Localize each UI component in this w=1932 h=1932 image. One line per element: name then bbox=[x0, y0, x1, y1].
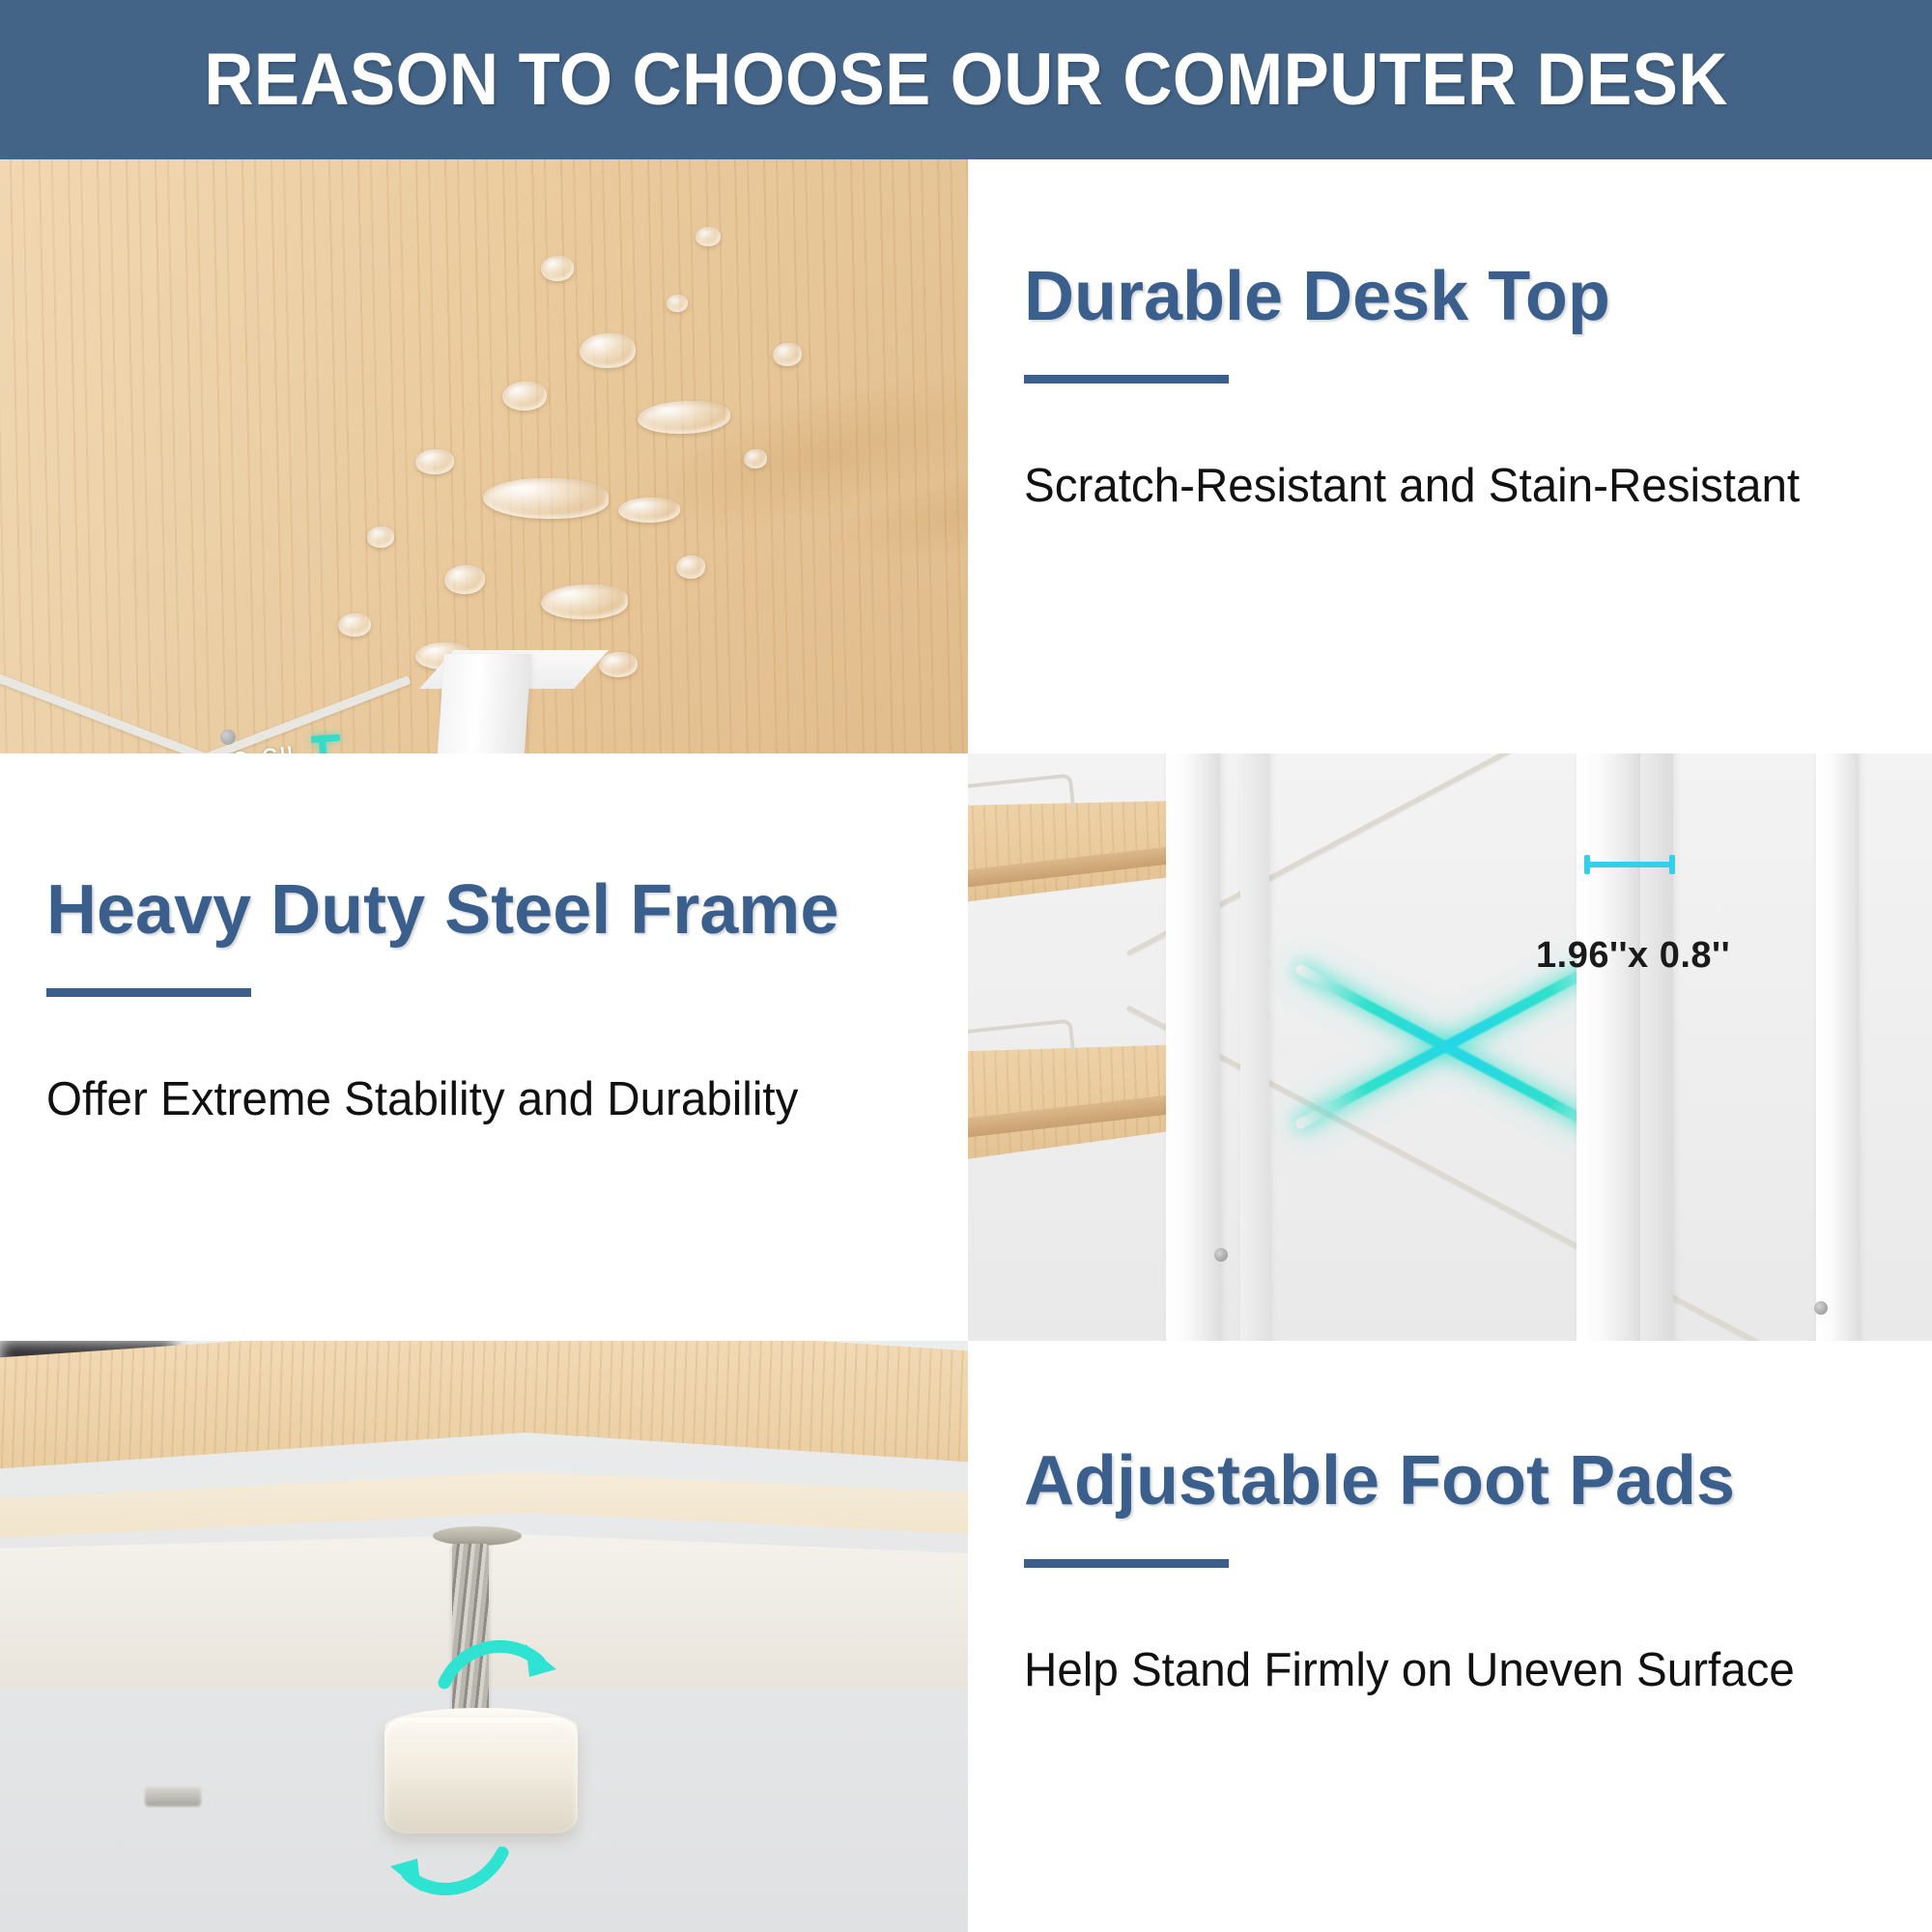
feature-subtitle: Scratch-Resistant and Stain-Resistant bbox=[1024, 459, 1800, 513]
rotation-arrow-icon bbox=[384, 1824, 510, 1911]
water-droplet bbox=[367, 526, 394, 548]
feature-text-block: Heavy Duty Steel Frame Offer Extreme Sta… bbox=[46, 874, 838, 1126]
feature-text-block: Durable Desk Top Scratch-Resistant and S… bbox=[1024, 261, 1824, 513]
water-droplet bbox=[667, 295, 688, 312]
frame-post bbox=[1166, 753, 1220, 1341]
feature-heading: Heavy Duty Steel Frame bbox=[46, 874, 838, 948]
steel-frame-photo: 1.96''x 0.8'' bbox=[968, 753, 1932, 1341]
water-droplet bbox=[502, 382, 547, 411]
water-droplet bbox=[415, 449, 454, 474]
header-banner: REASON TO CHOOSE OUR COMPUTER DESK bbox=[0, 0, 1932, 159]
water-droplet bbox=[541, 256, 574, 281]
feature-photo-heavy-duty-steel-frame: 1.96''x 0.8'' bbox=[968, 753, 1932, 1341]
foot-pad-photo bbox=[0, 1341, 968, 1932]
frame-post bbox=[1640, 753, 1673, 1341]
feature-text-durable-desk-top: Durable Desk Top Scratch-Resistant and S… bbox=[968, 159, 1932, 753]
water-droplet bbox=[618, 497, 680, 523]
desk-top-photo: 0.6'' bbox=[0, 159, 968, 753]
brace-screw bbox=[1814, 1301, 1828, 1315]
dimension-cap-left bbox=[1584, 855, 1590, 874]
water-droplet bbox=[773, 343, 802, 366]
foot-pad bbox=[384, 1718, 578, 1833]
water-droplet bbox=[338, 613, 371, 637]
feature-photo-adjustable-foot-pads bbox=[0, 1341, 968, 1932]
water-droplet bbox=[580, 333, 636, 368]
brace-screw bbox=[1214, 1248, 1228, 1262]
infographic-page: REASON TO CHOOSE OUR COMPUTER DESK bbox=[0, 0, 1932, 1932]
rotation-arrow-icon bbox=[437, 1627, 562, 1714]
cyan-x-brace-glow bbox=[1293, 963, 1623, 1145]
heading-rule bbox=[46, 988, 251, 997]
frame-post bbox=[1816, 753, 1859, 1341]
desk-leg bbox=[429, 654, 531, 753]
feature-heading: Durable Desk Top bbox=[1024, 261, 1824, 334]
water-droplet bbox=[444, 565, 485, 594]
water-droplet bbox=[483, 478, 609, 519]
feature-text-heavy-duty-steel-frame: Heavy Duty Steel Frame Offer Extreme Sta… bbox=[0, 753, 968, 1341]
water-droplet bbox=[696, 227, 721, 246]
water-droplet bbox=[599, 652, 638, 677]
dimension-cap-right bbox=[1669, 855, 1675, 874]
tube-callout-label: 1.96''x 0.8'' bbox=[1536, 935, 1730, 977]
feature-subtitle: Help Stand Firmly on Uneven Surface bbox=[1024, 1643, 1795, 1697]
frame-post bbox=[1240, 753, 1269, 1341]
page-title: REASON TO CHOOSE OUR COMPUTER DESK bbox=[204, 38, 1727, 122]
water-droplet bbox=[676, 555, 705, 579]
feature-text-adjustable-foot-pads: Adjustable Foot Pads Help Stand Firmly o… bbox=[968, 1341, 1932, 1932]
frame-post bbox=[1577, 753, 1640, 1341]
tube-dimension-line bbox=[1586, 862, 1675, 867]
frame-bolt bbox=[145, 1787, 201, 1806]
feature-heading: Adjustable Foot Pads bbox=[1024, 1445, 1819, 1519]
heading-rule bbox=[1024, 375, 1229, 384]
feature-subtitle: Offer Extreme Stability and Durability bbox=[46, 1072, 815, 1126]
screw-washer bbox=[433, 1526, 522, 1546]
water-droplet bbox=[541, 584, 628, 619]
water-droplet bbox=[744, 449, 767, 469]
feature-photo-durable-desk-top: 0.6'' bbox=[0, 159, 968, 753]
brace-screw bbox=[220, 729, 236, 745]
feature-text-block: Adjustable Foot Pads Help Stand Firmly o… bbox=[1024, 1445, 1819, 1697]
heading-rule bbox=[1024, 1559, 1229, 1568]
